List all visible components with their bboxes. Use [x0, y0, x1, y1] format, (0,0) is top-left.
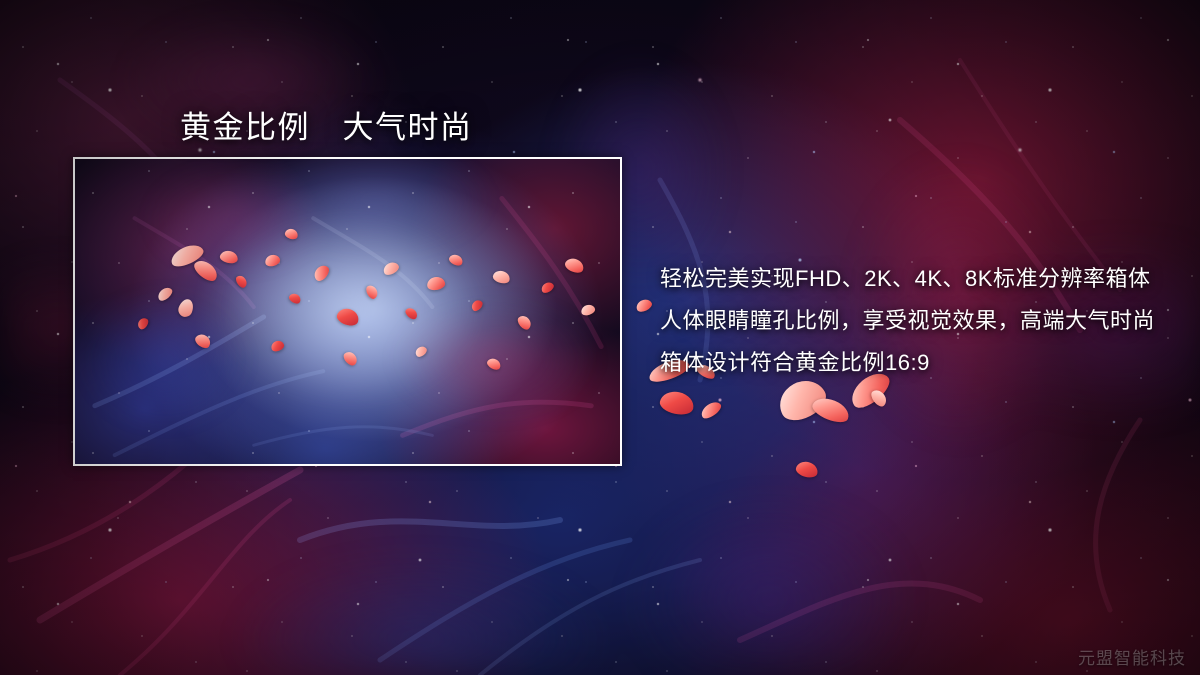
body-line-3: 箱体设计符合黄金比例16:9	[660, 342, 1180, 384]
flower-petal	[634, 297, 653, 314]
flower-petal	[869, 387, 890, 409]
flower-petal	[810, 394, 853, 427]
presentation-slide: 黄金比例 大气时尚 轻松完美实现FHD、2K、4K、8K标准分辨率箱体 人体眼睛…	[0, 0, 1200, 675]
slide-title: 黄金比例 大气时尚	[180, 102, 473, 147]
flower-petal	[658, 389, 696, 418]
flower-petal	[794, 459, 819, 479]
body-text-block: 轻松完美实现FHD、2K、4K、8K标准分辨率箱体 人体眼睛瞳孔比例，享受视觉效…	[660, 258, 1180, 384]
framed-galaxy-photo	[73, 157, 622, 466]
body-line-2: 人体眼睛瞳孔比例，享受视觉效果，高端大气时尚	[660, 300, 1180, 342]
company-watermark: 元盟智能科技	[1078, 644, 1186, 669]
inner-star-field	[75, 159, 620, 464]
flower-petal	[699, 399, 724, 421]
body-line-1: 轻松完美实现FHD、2K、4K、8K标准分辨率箱体	[660, 258, 1180, 300]
